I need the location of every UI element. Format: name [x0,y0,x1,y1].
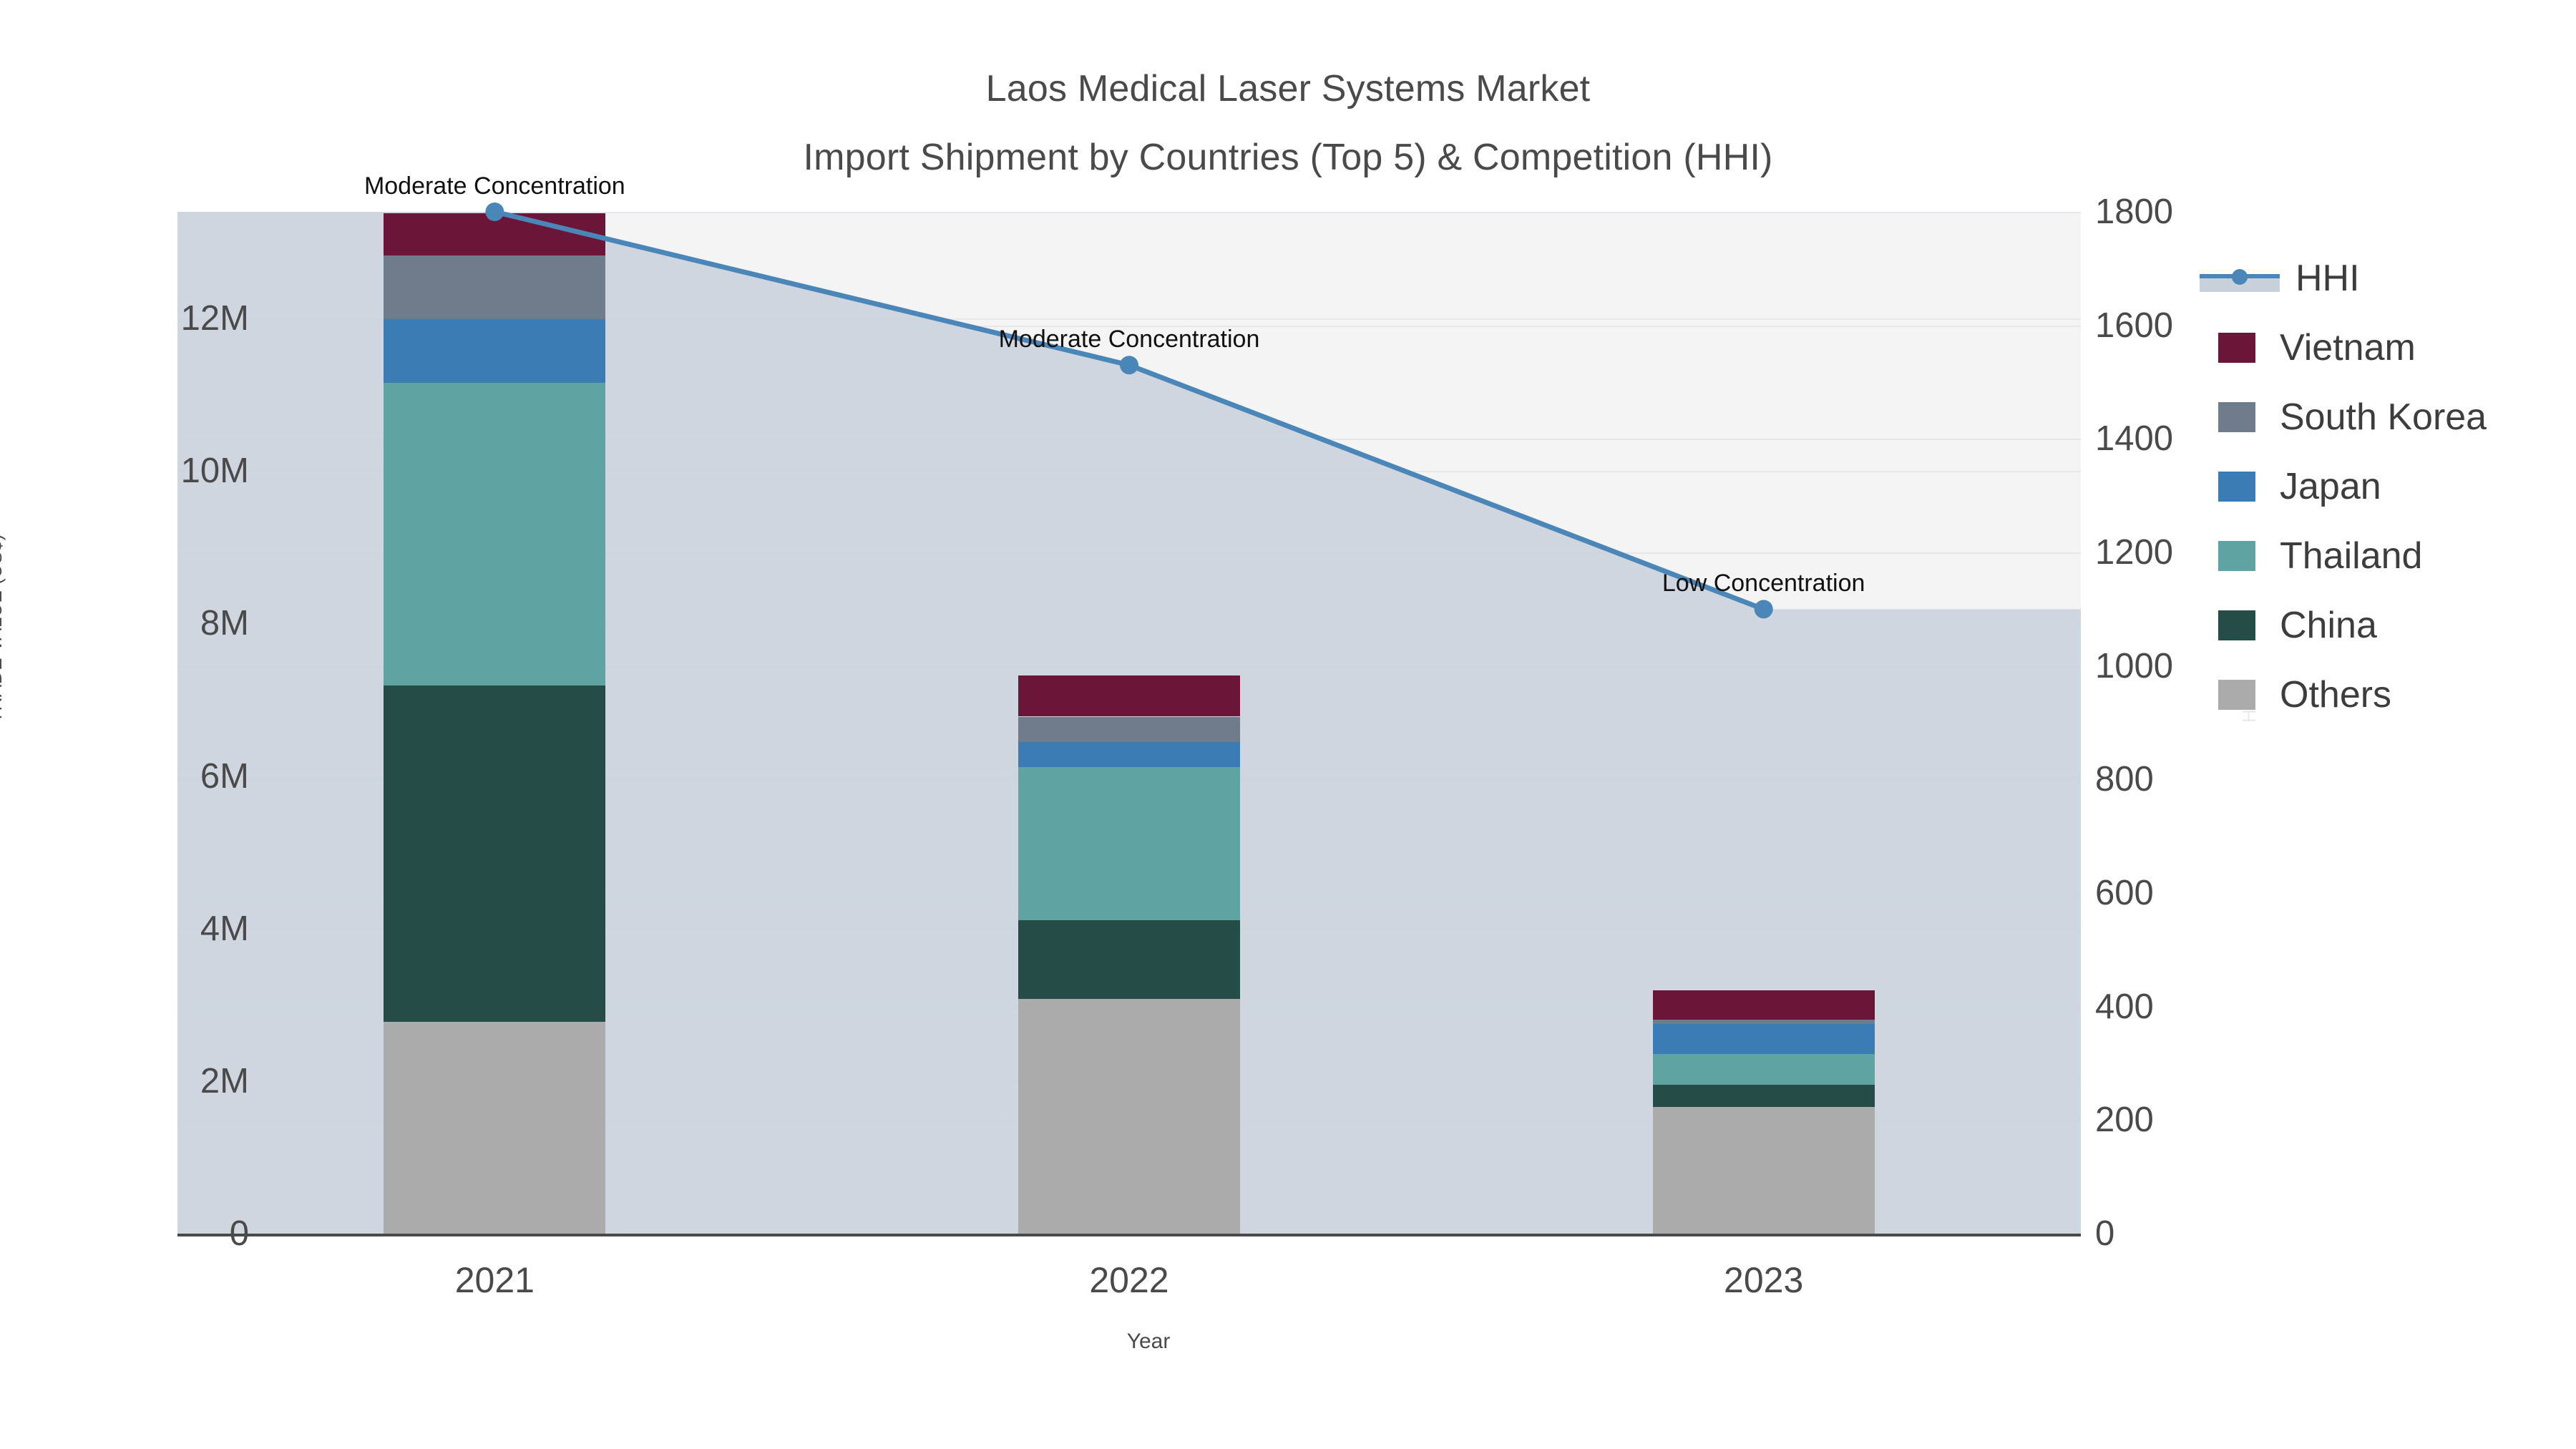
legend-label: Thailand [2280,535,2422,577]
y-tick-left: 2M [77,1061,249,1101]
legend-item-hhi[interactable]: HHI [2200,243,2572,313]
y-tick-left: 4M [77,909,249,949]
y-tick-right: 800 [2095,759,2281,799]
x-tick-2023: 2023 [1621,1259,1907,1301]
hhi-annotation-2021: Moderate Concentration [364,172,625,200]
chart-legend: HHIVietnamSouth KoreaJapanThailandChinaO… [2200,236,2572,739]
y-tick-right: 600 [2095,873,2281,913]
legend-item-vietnam[interactable]: Vietnam [2200,313,2572,382]
plot-area [177,212,2081,1234]
chart-title: Laos Medical Laser Systems Market Import… [0,54,2576,192]
y-tick-right: 200 [2095,1100,2281,1140]
y-tick-left: 8M [77,603,249,643]
y-tick-left: 6M [77,756,249,796]
legend-item-south-korea[interactable]: South Korea [2200,382,2572,452]
y-tick-right: 400 [2095,987,2281,1027]
legend-item-japan[interactable]: Japan [2200,452,2572,521]
legend-line-marker-icon [2200,263,2280,293]
x-tick-2021: 2021 [351,1259,638,1301]
legend-swatch-icon [2218,680,2255,710]
legend-item-china[interactable]: China [2200,590,2572,660]
legend-label: Japan [2280,465,2381,508]
y-tick-right: 0 [2095,1214,2281,1254]
legend-label: HHI [2296,257,2360,300]
legend-label: Others [2280,673,2391,716]
legend-swatch-icon [2218,610,2255,640]
legend-swatch-icon [2218,472,2255,502]
y-tick-right: 1800 [2095,192,2281,232]
legend-swatch-icon [2218,333,2255,363]
legend-swatch-icon [2218,541,2255,571]
x-tick-2022: 2022 [986,1259,1272,1301]
legend-item-thailand[interactable]: Thailand [2200,521,2572,590]
legend-label: Vietnam [2280,326,2416,369]
legend-swatch-icon [2218,402,2255,432]
x-axis-line [177,1234,2081,1236]
y-axis-left-label: TRADE VALUE (US$) [0,534,6,723]
hhi-annotation-2023: Low Concentration [1662,570,1865,597]
legend-item-others[interactable]: Others [2200,660,2572,729]
y-tick-left: 10M [77,451,249,491]
legend-label: China [2280,604,2377,647]
x-axis-label: Year [0,1330,2297,1354]
legend-label: South Korea [2280,396,2487,439]
y-tick-left: 12M [77,298,249,338]
hhi-annotation-2022: Moderate Concentration [999,326,1260,353]
chart-title-line-1: Laos Medical Laser Systems Market [0,54,2576,123]
